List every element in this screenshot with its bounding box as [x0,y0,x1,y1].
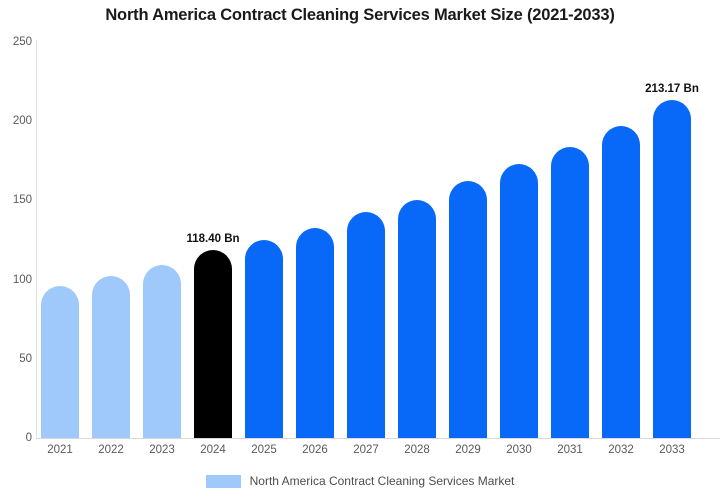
plot-area: 118.40 Bn213.17 Bn [36,42,720,438]
bar-slot [41,42,79,438]
bar-2021[interactable] [41,286,79,438]
bar-value-label-2024: 118.40 Bn [186,233,239,245]
bar-2029[interactable] [449,181,487,438]
y-tick-250: 250 [2,36,32,48]
bar-slot [602,42,640,438]
bar-2026[interactable] [296,228,334,438]
bar-slot [551,42,589,438]
x-axis-line [36,438,720,439]
y-axis-tick-labels: 050100150200250 [0,0,32,500]
bar-2025[interactable] [245,240,283,438]
bar-slot [500,42,538,438]
bar-slot: 213.17 Bn [653,42,691,438]
bar-slot [398,42,436,438]
bar-2032[interactable] [602,126,640,438]
bar-2028[interactable] [398,200,436,438]
x-tick-2032: 2032 [602,444,640,456]
x-tick-2026: 2026 [296,444,334,456]
x-tick-2033: 2033 [653,444,691,456]
bar-slot [296,42,334,438]
chart-container: North America Contract Cleaning Services… [0,0,720,500]
legend-label-market: North America Contract Cleaning Services… [250,474,515,488]
bar-2024[interactable]: 118.40 Bn [194,250,232,438]
y-tick-50: 50 [2,353,32,365]
x-tick-2022: 2022 [92,444,130,456]
y-tick-100: 100 [2,274,32,286]
bar-2023[interactable] [143,265,181,438]
chart-title: North America Contract Cleaning Services… [0,6,720,25]
x-tick-2025: 2025 [245,444,283,456]
x-tick-2024: 2024 [194,444,232,456]
x-tick-2028: 2028 [398,444,436,456]
bar-slot [347,42,385,438]
legend-swatch-market [206,475,241,488]
bar-2027[interactable] [347,212,385,438]
y-tick-150: 150 [2,194,32,206]
bar-2031[interactable] [551,147,589,438]
bar-slot [449,42,487,438]
bar-slot: 118.40 Bn [194,42,232,438]
y-tick-0: 0 [2,432,32,444]
x-tick-2021: 2021 [41,444,79,456]
bar-slot [143,42,181,438]
x-tick-2023: 2023 [143,444,181,456]
bar-slot [245,42,283,438]
bar-slot [92,42,130,438]
x-tick-2027: 2027 [347,444,385,456]
y-tick-200: 200 [2,115,32,127]
bar-value-label-2033: 213.17 Bn [645,83,699,95]
x-tick-2030: 2030 [500,444,538,456]
bar-2033[interactable]: 213.17 Bn [653,100,691,438]
bar-2030[interactable] [500,164,538,438]
x-tick-2031: 2031 [551,444,589,456]
x-tick-2029: 2029 [449,444,487,456]
chart-legend: North America Contract Cleaning Services… [0,474,720,488]
bar-2022[interactable] [92,276,130,438]
